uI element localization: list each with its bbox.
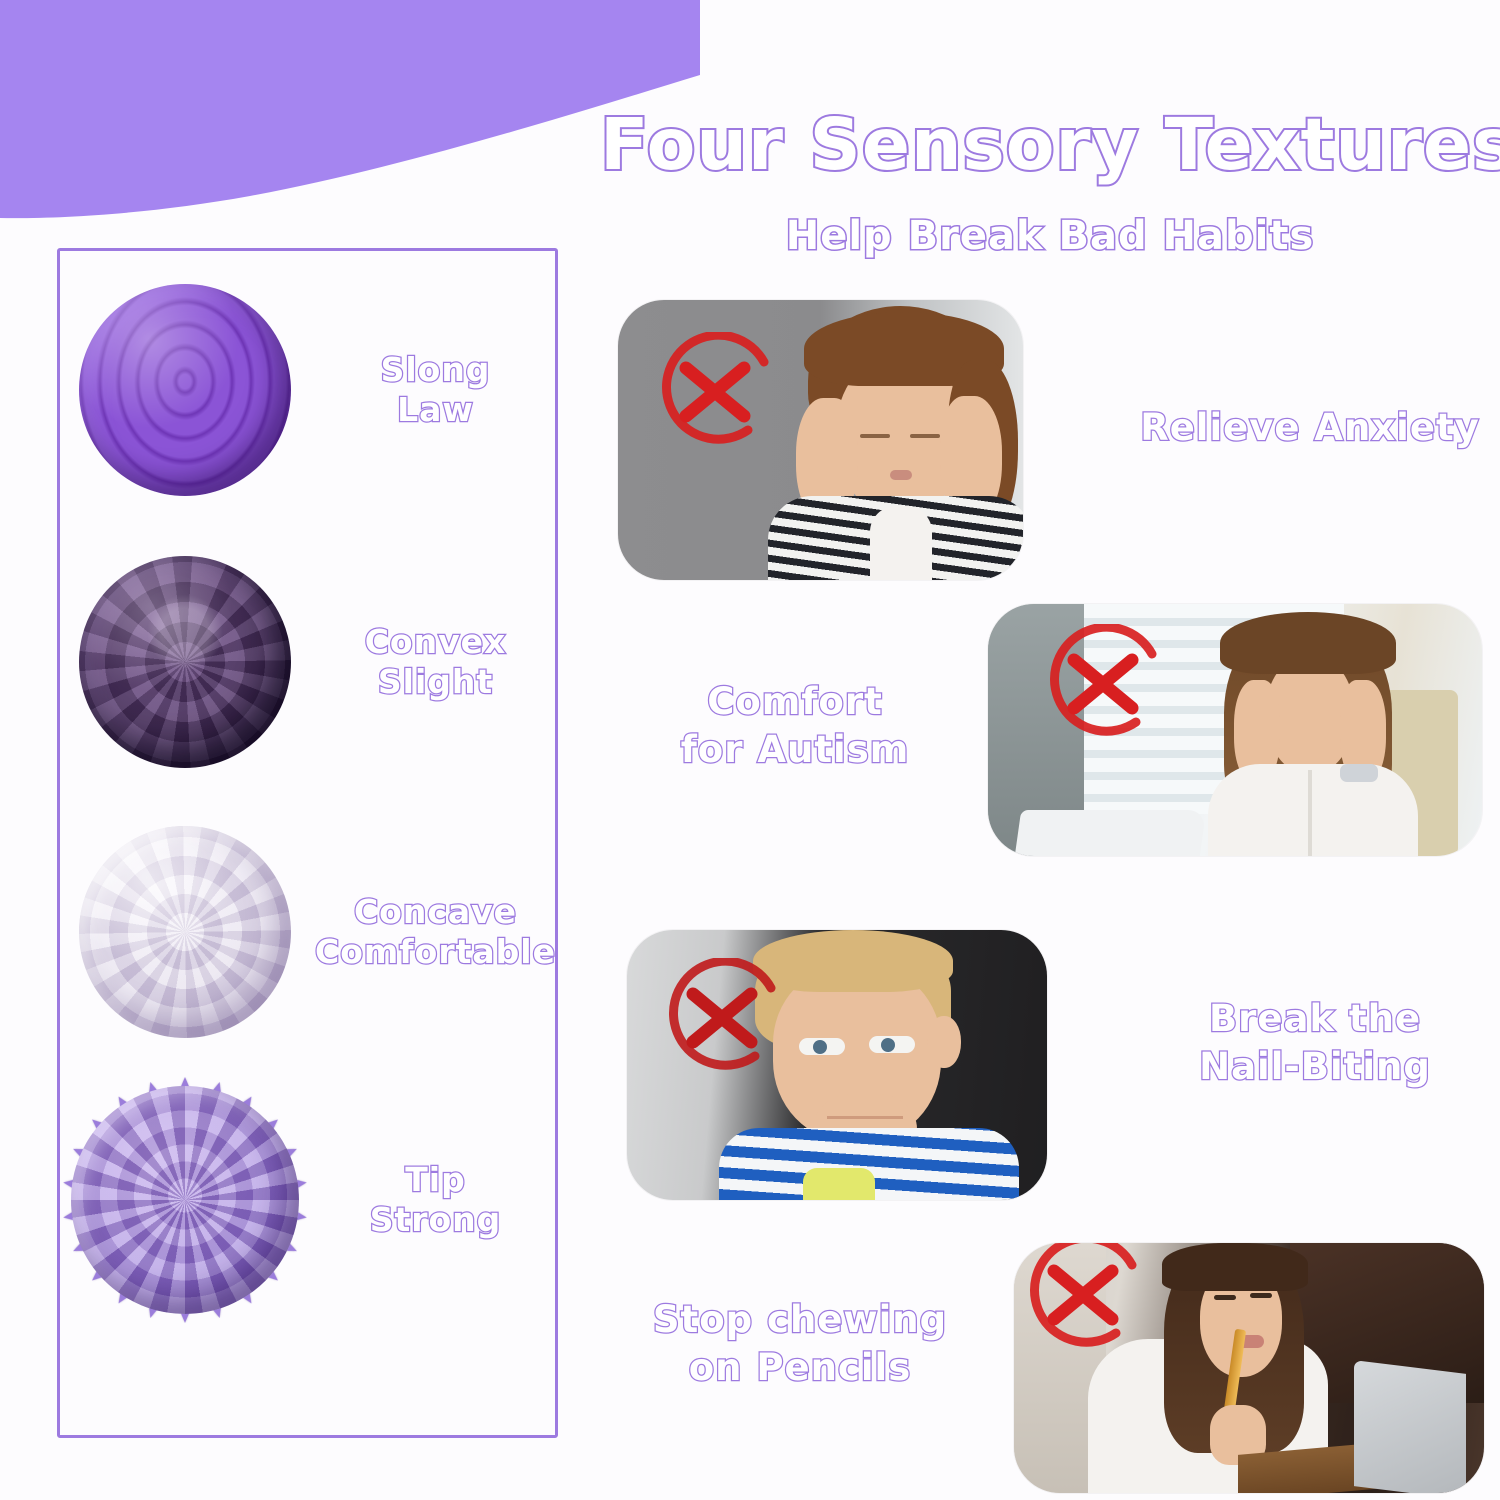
texture-label: Concave Comfortable <box>310 892 561 973</box>
texture-label-line1: Convex <box>365 622 507 661</box>
benefit-label-line2: on Pencils <box>630 1344 970 1392</box>
ball-slot <box>60 826 310 1038</box>
texture-item-slong-law[interactable]: Slong Law <box>60 271 561 509</box>
benefit-label-line2: for Autism <box>640 726 950 774</box>
texture-label: Convex Slight <box>310 622 561 703</box>
texture-label-line1: Concave <box>354 892 517 931</box>
texture-panel: Slong Law Convex Slight Concave Comforta… <box>57 248 558 1438</box>
texture-label-line1: Slong <box>381 350 491 389</box>
spiky-ball-icon <box>71 1086 299 1314</box>
texture-label-line1: Tip <box>405 1160 465 1199</box>
benefit-label-line1: Comfort <box>707 680 883 723</box>
benefit-label-stop-chewing-on-pencils: Stop chewing on Pencils <box>630 1296 970 1392</box>
texture-item-convex-slight[interactable]: Convex Slight <box>60 543 561 781</box>
header-wave-decoration <box>0 0 700 230</box>
benefit-label-line1: Break the <box>1209 997 1421 1040</box>
photo-nail-biting-boy <box>627 930 1047 1200</box>
convex-ball-icon <box>79 556 291 768</box>
red-x-stamp-icon <box>1024 1243 1144 1355</box>
page-subtitle: Help Break Bad Habits <box>600 213 1500 259</box>
texture-label-line2: Slight <box>310 662 561 702</box>
ball-slot <box>60 284 310 496</box>
benefit-label-line1: Relieve Anxiety <box>1140 406 1480 449</box>
photo-stressed-woman-laptop <box>988 604 1482 856</box>
benefit-label-line1: Stop chewing <box>653 1298 947 1341</box>
benefit-label-line2: Nail-Biting <box>1150 1043 1480 1091</box>
texture-item-concave-comfortable[interactable]: Concave Comfortable <box>60 813 561 1051</box>
spiky-ball-core <box>71 1086 299 1314</box>
texture-item-tip-strong[interactable]: Tip Strong <box>60 1081 561 1319</box>
benefit-label-comfort-for-autism: Comfort for Autism <box>640 678 950 774</box>
red-x-stamp-icon <box>663 958 783 1078</box>
ribbed-ball-icon <box>79 284 291 496</box>
texture-label-line2: Strong <box>310 1200 561 1240</box>
benefit-label-break-the-nail-biting: Break the Nail-Biting <box>1150 995 1480 1091</box>
red-x-stamp-icon <box>656 332 776 452</box>
texture-label-line2: Comfortable <box>310 932 561 972</box>
texture-label: Slong Law <box>310 350 561 431</box>
photo-pencil-chewing-woman <box>1014 1243 1484 1493</box>
texture-label-line2: Law <box>310 390 561 430</box>
concave-ball-icon <box>79 826 291 1038</box>
benefit-label-relieve-anxiety: Relieve Anxiety <box>1120 404 1500 452</box>
ball-slot <box>60 1086 310 1314</box>
ball-slot <box>60 556 310 768</box>
texture-label: Tip Strong <box>310 1160 561 1241</box>
page-title: Four Sensory Textures <box>600 103 1500 186</box>
red-x-stamp-icon <box>1044 624 1164 744</box>
photo-anxious-girl <box>618 300 1023 580</box>
